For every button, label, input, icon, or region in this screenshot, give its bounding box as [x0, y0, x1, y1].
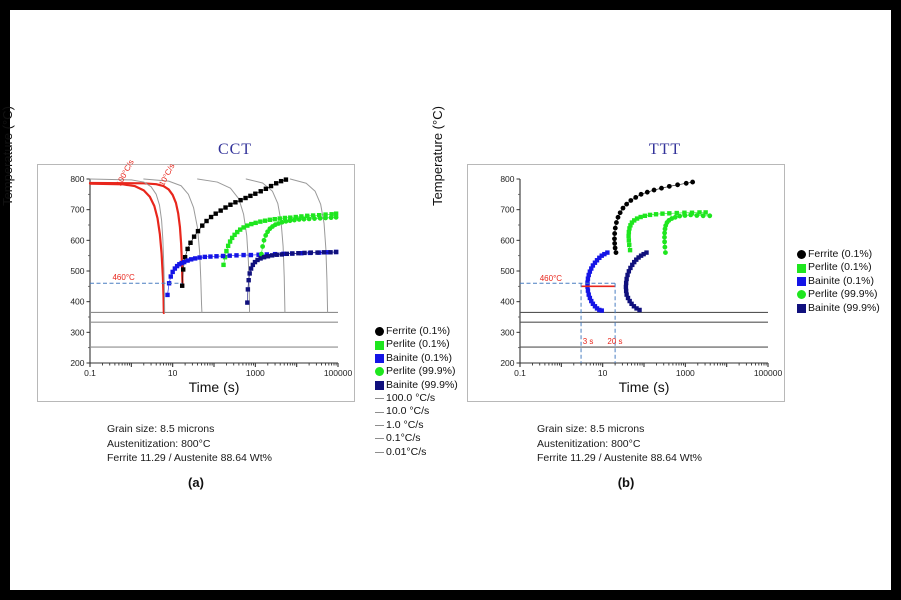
legend-line-marker: [375, 412, 384, 413]
data-point: [189, 257, 193, 261]
legend-square-marker: [797, 304, 806, 313]
data-point: [247, 271, 251, 275]
data-point: [614, 220, 619, 225]
legend-item: Bainite (99.9%): [797, 302, 880, 315]
data-point: [226, 244, 230, 248]
legend-item-label: Perlite (0.1%): [808, 261, 872, 274]
data-point: [612, 236, 617, 241]
legend-item: 0.1°C/s: [375, 432, 458, 445]
data-point: [223, 205, 227, 209]
legend-item: Perlite (0.1%): [797, 261, 880, 274]
data-point: [224, 249, 228, 253]
legend-line-marker: [375, 438, 384, 439]
data-point: [246, 278, 250, 282]
legend-item-label: Perlite (99.9%): [808, 288, 877, 301]
legend-item: 0.01°C/s: [375, 446, 458, 459]
data-point: [180, 284, 184, 288]
annotation: 460°C: [540, 274, 563, 283]
data-point: [258, 219, 262, 223]
legend-item-label: Perlite (99.9%): [386, 365, 455, 378]
data-point: [701, 213, 706, 218]
data-point: [690, 180, 695, 185]
data-point: [274, 181, 278, 185]
annotation: 460°C: [112, 273, 135, 282]
data-point: [694, 213, 699, 218]
cooling-rate-curve: [90, 179, 165, 312]
data-point: [263, 219, 267, 223]
x-tick-label: 10: [168, 368, 178, 378]
chart-title-ttt: TTT: [465, 140, 865, 164]
data-point: [652, 188, 657, 193]
legend-square-marker: [375, 354, 384, 363]
annotation: 20 s: [607, 337, 622, 346]
data-point: [624, 202, 629, 207]
data-point: [643, 214, 647, 218]
data-point: [280, 252, 284, 256]
y-tick-label: 700: [500, 205, 514, 215]
data-point: [185, 247, 189, 251]
data-point: [253, 192, 257, 196]
x-axis-label-cct: Time (s): [90, 379, 338, 395]
legend-circle-marker: [375, 327, 384, 336]
y-tick-label: 500: [500, 266, 514, 276]
chart-box-cct: Temperature (°C) Time (s) 20030040050060…: [37, 164, 355, 402]
legend-item-label: Bainite (0.1%): [808, 275, 874, 288]
data-point: [667, 211, 671, 215]
data-point: [707, 213, 712, 218]
data-point: [322, 250, 326, 254]
data-point: [188, 241, 192, 245]
panel-cct: CCT Temperature (°C) Time (s) 2003004005…: [35, 140, 435, 510]
caption-line: Ferrite 11.29 / Austenite 88.64 Wt%: [537, 451, 702, 466]
caption-line: Grain size: 8.5 microns: [537, 422, 702, 437]
legend-item: Ferrite (0.1%): [375, 325, 458, 338]
data-point: [264, 187, 268, 191]
data-point: [329, 215, 334, 220]
data-point: [209, 215, 213, 219]
subcaption-a: (a): [35, 475, 357, 490]
data-point: [245, 223, 249, 227]
data-point: [218, 208, 222, 212]
legend-item-label: 0.01°C/s: [386, 446, 426, 459]
data-point: [663, 250, 668, 255]
legend-item-label: Bainite (0.1%): [386, 352, 452, 365]
legend-square-marker: [797, 277, 806, 286]
data-point: [196, 229, 200, 233]
data-point: [234, 253, 238, 257]
legend-square-marker: [375, 381, 384, 390]
legend-item: Perlite (0.1%): [375, 338, 458, 351]
data-point: [334, 215, 339, 220]
data-point: [288, 218, 293, 223]
figure-frame: CCT Temperature (°C) Time (s) 2003004005…: [10, 10, 891, 590]
data-point: [262, 255, 266, 259]
x-tick-label: 10: [598, 368, 608, 378]
data-point: [241, 253, 245, 257]
legend-item: 1.0 °C/s: [375, 419, 458, 432]
legend-item: 100.0 °C/s: [375, 392, 458, 405]
data-point: [279, 179, 283, 183]
data-point: [624, 277, 628, 281]
y-tick-label: 700: [70, 205, 84, 215]
data-point: [269, 184, 273, 188]
data-point: [613, 226, 618, 231]
data-point: [260, 244, 265, 249]
data-point: [600, 308, 604, 312]
data-point: [639, 192, 644, 197]
data-point: [243, 196, 247, 200]
data-point: [323, 216, 328, 221]
data-point: [181, 267, 185, 271]
data-point: [248, 194, 252, 198]
legend-item: Perlite (99.9%): [375, 365, 458, 378]
data-point: [627, 243, 631, 247]
data-point: [586, 288, 590, 292]
data-point: [626, 234, 630, 238]
data-point: [648, 213, 652, 217]
caption-line: Ferrite 11.29 / Austenite 88.64 Wt%: [107, 451, 272, 466]
y-tick-label: 600: [500, 235, 514, 245]
caption-line: Austenitization: 800°C: [537, 437, 702, 452]
legend-item-label: Bainite (99.9%): [808, 302, 880, 315]
data-point: [683, 213, 688, 218]
caption-cct: Grain size: 8.5 micronsAustenitization: …: [107, 422, 272, 466]
legend-line-marker: [375, 452, 384, 453]
data-point: [203, 255, 207, 259]
data-point: [292, 218, 297, 223]
data-point: [627, 238, 631, 242]
data-point: [253, 221, 257, 225]
legend-item-label: 1.0 °C/s: [386, 419, 423, 432]
legend-item-label: Ferrite (0.1%): [386, 325, 450, 338]
data-point: [334, 250, 338, 254]
data-point: [262, 238, 267, 243]
data-point: [233, 200, 237, 204]
legend-cct: Ferrite (0.1%)Perlite (0.1%)Bainite (0.1…: [375, 325, 458, 459]
data-point: [677, 214, 682, 219]
data-point: [297, 217, 302, 222]
caption-line: Grain size: 8.5 microns: [107, 422, 272, 437]
y-tick-label: 400: [500, 297, 514, 307]
data-point: [616, 215, 621, 220]
data-point: [586, 276, 590, 280]
caption-ttt: Grain size: 8.5 micronsAustenitization: …: [537, 422, 702, 466]
x-tick-label: 100000: [324, 368, 353, 378]
data-point: [193, 256, 197, 260]
data-point: [654, 212, 658, 216]
data-point: [266, 254, 270, 258]
data-point: [628, 248, 632, 252]
data-point: [245, 300, 249, 304]
data-point: [662, 245, 667, 250]
data-point: [197, 255, 201, 259]
x-tick-label: 1000: [246, 368, 265, 378]
plot-area-cct: 2003004005006007008000.1101000100000460°…: [90, 179, 338, 363]
data-point: [214, 211, 218, 215]
data-point: [270, 253, 274, 257]
legend-item: Bainite (0.1%): [375, 352, 458, 365]
y-axis-label-ttt: Temperature (°C): [430, 91, 445, 221]
data-point: [246, 287, 250, 291]
data-point: [645, 190, 650, 195]
data-point: [221, 254, 225, 258]
data-point: [688, 212, 693, 217]
y-tick-label: 500: [70, 266, 84, 276]
annotation: 10°C/s: [157, 162, 176, 188]
legend-item-label: Bainite (99.9%): [386, 379, 458, 392]
legend-item-label: Ferrite (0.1%): [808, 248, 872, 261]
data-point: [625, 273, 629, 277]
data-point: [285, 252, 289, 256]
data-point: [675, 182, 680, 187]
data-point: [328, 250, 332, 254]
chart-title-cct: CCT: [35, 140, 435, 164]
annotation: 3 s: [583, 337, 594, 346]
data-point: [249, 222, 253, 226]
legend-line-marker: [375, 398, 384, 399]
legend-item: Bainite (0.1%): [797, 275, 880, 288]
data-point: [284, 177, 288, 181]
legend-item-label: 10.0 °C/s: [386, 405, 429, 418]
data-point: [273, 217, 277, 221]
data-point: [684, 181, 689, 186]
x-tick-label: 100000: [754, 368, 783, 378]
data-point: [585, 280, 589, 284]
data-point: [667, 184, 672, 189]
data-point: [312, 216, 317, 221]
subcaption-b: (b): [465, 475, 787, 490]
legend-line-marker: [375, 425, 384, 426]
data-point: [296, 251, 300, 255]
cooling-rate-curve: [90, 183, 183, 286]
data-point: [302, 251, 306, 255]
data-point: [165, 293, 169, 297]
data-point: [624, 281, 628, 285]
y-tick-label: 200: [70, 358, 84, 368]
data-point: [275, 253, 279, 257]
y-tick-label: 300: [70, 327, 84, 337]
legend-ttt: Ferrite (0.1%)Perlite (0.1%)Bainite (0.1…: [797, 248, 880, 315]
legend-circle-marker: [797, 250, 806, 259]
legend-item-label: Perlite (0.1%): [386, 338, 450, 351]
data-point: [302, 217, 307, 222]
data-point: [228, 253, 232, 257]
legend-circle-marker: [375, 367, 384, 376]
data-point: [633, 195, 638, 200]
x-axis-label-ttt: Time (s): [520, 379, 768, 395]
chart-box-ttt: Temperature (°C) Time (s) 20030040050060…: [467, 164, 785, 402]
data-point: [268, 218, 272, 222]
data-point: [662, 235, 667, 240]
y-tick-label: 800: [500, 174, 514, 184]
panel-ttt: TTT Temperature (°C) Time (s) 2003004005…: [465, 140, 865, 510]
data-point: [307, 216, 312, 221]
data-point: [249, 253, 253, 257]
legend-item-label: 100.0 °C/s: [386, 392, 435, 405]
cooling-rate-curve: [90, 184, 164, 313]
data-point: [612, 231, 617, 236]
legend-item: Bainite (99.9%): [375, 379, 458, 392]
data-point: [638, 215, 642, 219]
data-point: [208, 254, 212, 258]
data-point: [621, 206, 626, 211]
data-point: [290, 251, 294, 255]
x-tick-label: 0.1: [514, 368, 526, 378]
data-point: [613, 246, 618, 251]
data-point: [614, 250, 619, 255]
legend-item: 10.0 °C/s: [375, 405, 458, 418]
series-line: [224, 214, 337, 265]
data-point: [228, 203, 232, 207]
data-point: [204, 219, 208, 223]
plot-area-ttt: 2003004005006007008000.1101000100000460°…: [520, 179, 768, 363]
data-point: [259, 189, 263, 193]
data-point: [221, 263, 225, 267]
data-point: [315, 250, 319, 254]
data-point: [618, 210, 623, 215]
data-point: [624, 285, 628, 289]
legend-item: Ferrite (0.1%): [797, 248, 880, 261]
legend-item-label: 0.1°C/s: [386, 432, 421, 445]
data-point: [284, 219, 289, 224]
y-axis-label-cct: Temperature (°C): [0, 91, 15, 221]
data-point: [637, 308, 641, 312]
cooling-rate-curve: [246, 179, 285, 312]
legend-item: Perlite (99.9%): [797, 288, 880, 301]
data-point: [662, 239, 667, 244]
cooling-rate-curve: [144, 179, 202, 312]
data-point: [238, 198, 242, 202]
y-tick-label: 600: [70, 235, 84, 245]
caption-line: Austenitization: 800°C: [107, 437, 272, 452]
data-point: [659, 186, 664, 191]
data-point: [309, 250, 313, 254]
y-tick-label: 300: [500, 327, 514, 337]
y-tick-label: 200: [500, 358, 514, 368]
data-point: [660, 211, 664, 215]
data-point: [214, 254, 218, 258]
legend-square-marker: [797, 264, 806, 273]
data-point: [169, 274, 173, 278]
legend-circle-marker: [797, 290, 806, 299]
data-point: [200, 223, 204, 227]
data-point: [628, 198, 633, 203]
data-point: [673, 215, 678, 220]
legend-square-marker: [375, 341, 384, 350]
x-tick-label: 0.1: [84, 368, 96, 378]
x-tick-label: 1000: [676, 368, 695, 378]
y-tick-label: 400: [70, 297, 84, 307]
data-point: [612, 241, 617, 246]
data-point: [192, 234, 196, 238]
cooling-rate-curve: [290, 179, 327, 312]
y-tick-label: 800: [70, 174, 84, 184]
data-point: [318, 216, 323, 221]
